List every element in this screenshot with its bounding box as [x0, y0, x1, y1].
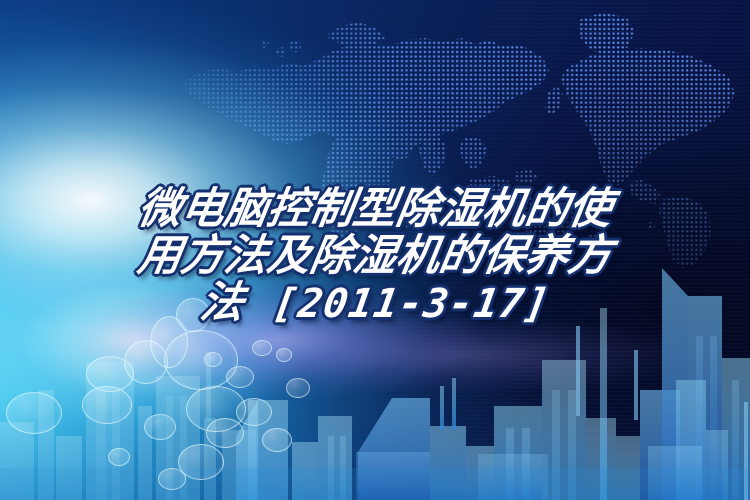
banner-image: 微电脑控制型除湿机的使 用方法及除湿机的保养方 法 [2011-3-17] [0, 0, 750, 500]
floating-bubbles [0, 0, 750, 500]
